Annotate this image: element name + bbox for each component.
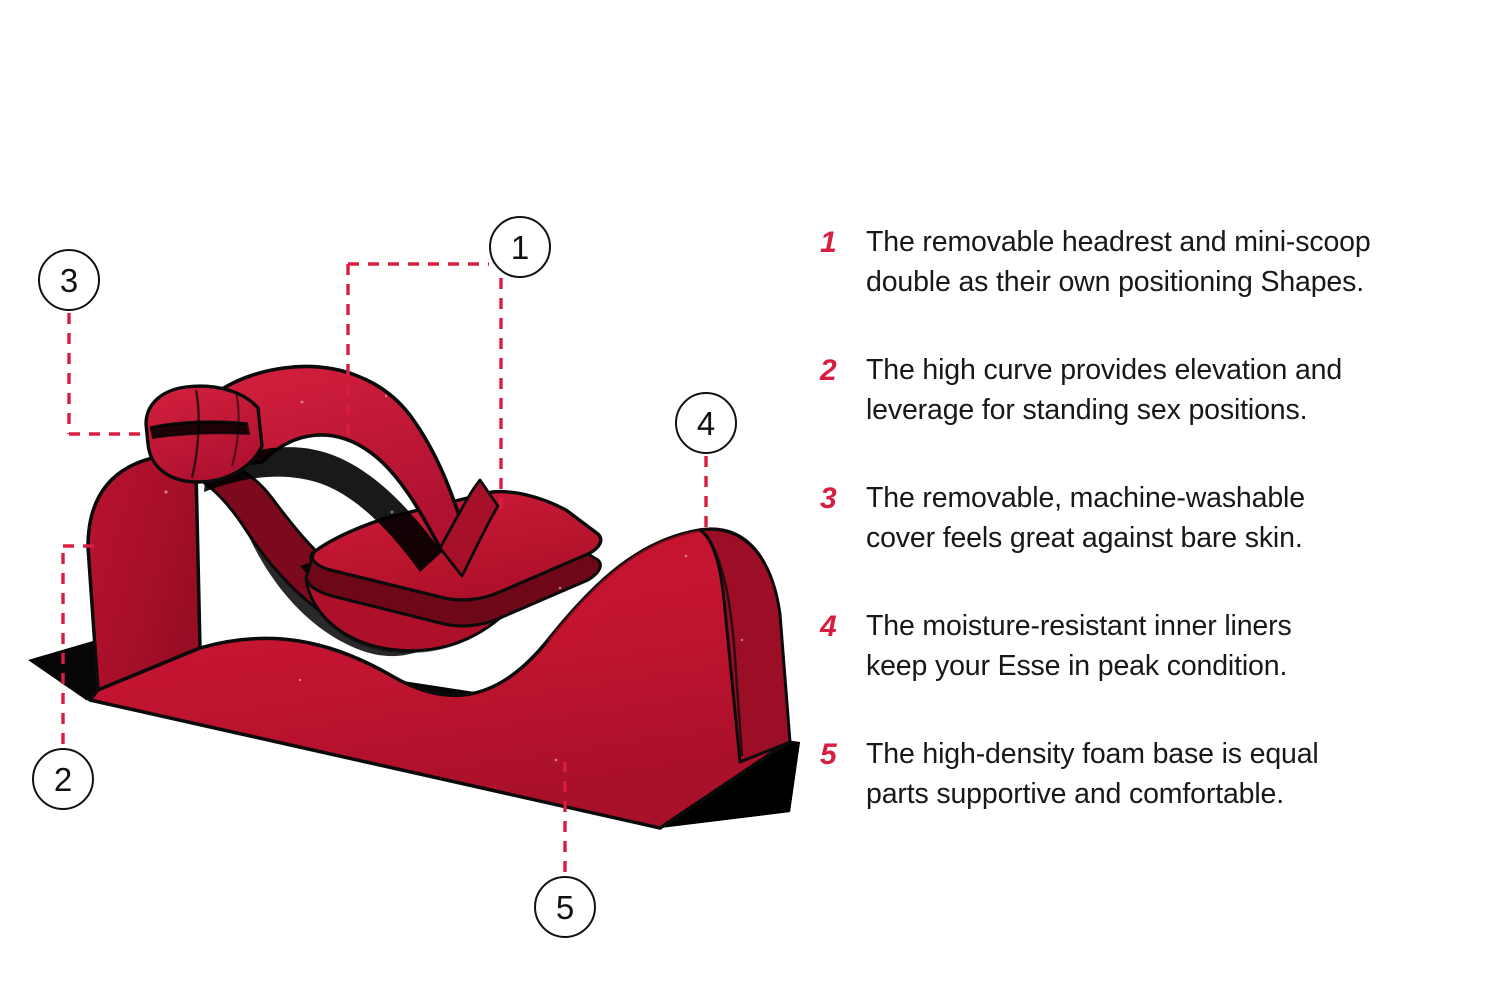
callout-marker-3-label: 3 (40, 251, 98, 309)
feature-text-3: The removable, machine-washable cover fe… (866, 478, 1480, 558)
product-feature-diagram: 1 2 3 4 5 1 The removable headrest and m… (0, 0, 1500, 999)
feature-text-2: The high curve provides elevation and le… (866, 350, 1480, 430)
feature-text-1: The removable headrest and mini-scoop do… (866, 222, 1480, 302)
feature-number-4: 4 (820, 606, 866, 647)
callout-marker-4-label: 4 (677, 394, 735, 452)
product-illustration-panel: 1 2 3 4 5 (0, 0, 810, 999)
feature-number-1: 1 (820, 222, 866, 263)
feature-number-5: 5 (820, 734, 866, 775)
callout-marker-1[interactable]: 1 (489, 216, 551, 278)
feature-item-1: 1 The removable headrest and mini-scoop … (820, 222, 1480, 302)
callout-marker-4[interactable]: 4 (675, 392, 737, 454)
feature-item-3: 3 The removable, machine-washable cover … (820, 478, 1480, 558)
feature-number-2: 2 (820, 350, 866, 391)
feature-list: 1 The removable headrest and mini-scoop … (820, 222, 1480, 814)
callout-marker-2-label: 2 (34, 750, 92, 808)
callout-marker-3[interactable]: 3 (38, 249, 100, 311)
feature-number-3: 3 (820, 478, 866, 519)
feature-item-4: 4 The moisture-resistant inner liners ke… (820, 606, 1480, 686)
callout-marker-5[interactable]: 5 (534, 876, 596, 938)
feature-item-5: 5 The high-density foam base is equal pa… (820, 734, 1480, 814)
product-illustration (0, 0, 810, 999)
feature-text-5: The high-density foam base is equal part… (866, 734, 1480, 814)
callout-marker-2[interactable]: 2 (32, 748, 94, 810)
callout-marker-1-label: 1 (491, 218, 549, 276)
feature-item-2: 2 The high curve provides elevation and … (820, 350, 1480, 430)
feature-text-4: The moisture-resistant inner liners keep… (866, 606, 1480, 686)
callout-marker-5-label: 5 (536, 878, 594, 936)
